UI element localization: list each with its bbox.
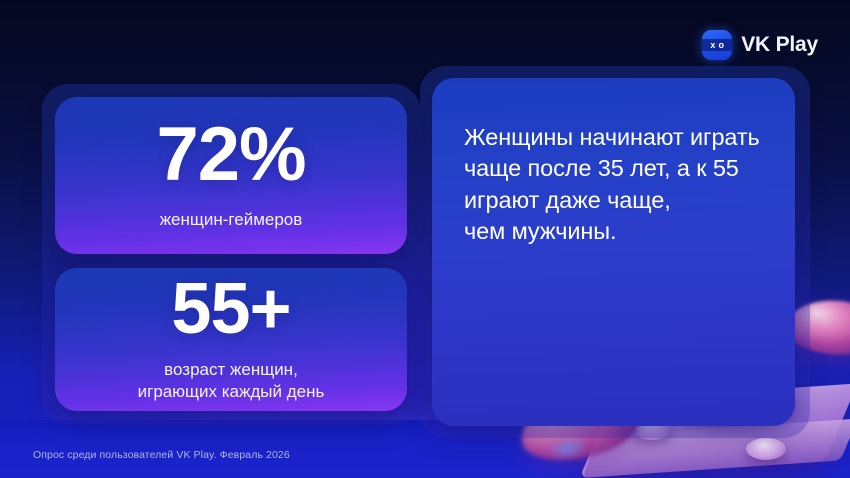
stat-card-age-daily-players: 55+ возраст женщин, играющих каждый день (55, 268, 407, 411)
source-footnote: Опрос среди пользователей VK Play. Февра… (33, 449, 290, 461)
logo-o-glyph: o (718, 41, 724, 50)
vk-play-logo[interactable]: x o VK Play (702, 30, 818, 60)
statement-line: играют даже чаще, (464, 185, 765, 216)
stat-caption-line: возраст женщин, (138, 359, 325, 381)
infographic-canvas: x o VK Play 72% женщин-геймеров 55+ возр… (0, 0, 850, 478)
stat-caption: возраст женщин, играющих каждый день (138, 359, 325, 403)
vk-play-logo-icon: x o (702, 30, 732, 60)
stat-caption: женщин-геймеров (160, 209, 303, 231)
stat-card-content: 55+ возраст женщин, играющих каждый день (55, 268, 407, 411)
stat-value: 72% (156, 117, 305, 193)
stat-caption-line: играющих каждый день (138, 381, 325, 403)
stat-card-percent-women-gamers: 72% женщин-геймеров (55, 97, 407, 254)
stat-card-content: 72% женщин-геймеров (55, 97, 407, 254)
statement-line: чаще после 35 лет, а к 55 (464, 153, 765, 184)
statement-line: Женщины начинают играть (464, 122, 765, 153)
vk-play-logo-text: VK Play (741, 33, 818, 57)
statement-line: чем мужчины. (464, 216, 765, 247)
logo-face-band: x o (702, 39, 732, 51)
statement-card: Женщины начинают играть чаще после 35 ле… (432, 78, 795, 426)
logo-x-glyph: x (710, 41, 715, 50)
statement-content: Женщины начинают играть чаще после 35 ле… (432, 78, 795, 248)
stat-value: 55+ (171, 273, 290, 345)
